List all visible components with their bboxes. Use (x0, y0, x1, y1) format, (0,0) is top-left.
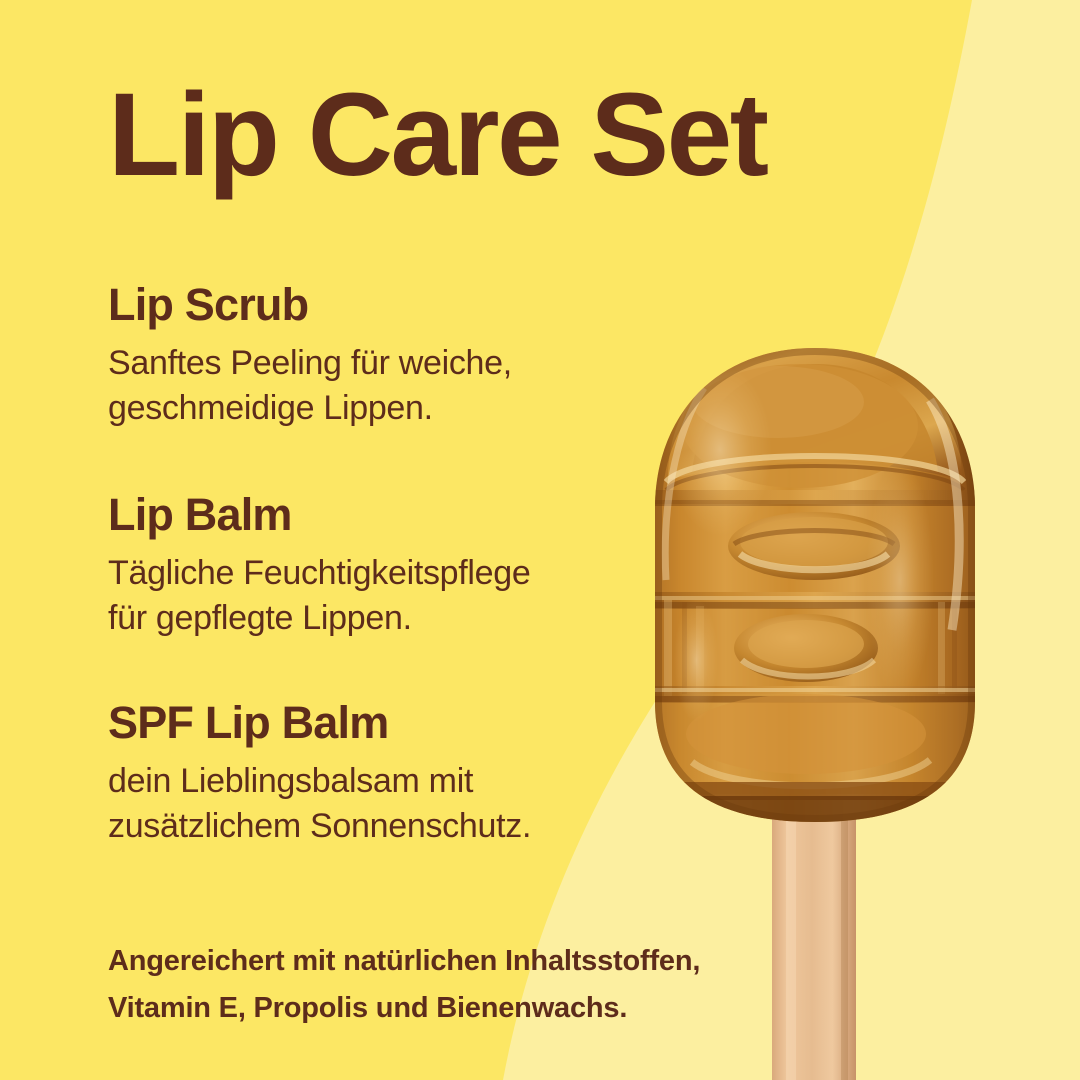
poster-canvas: Lip Care Set Lip Scrub Sanftes Peeling f… (0, 0, 1080, 1080)
section-title-lip-balm: Lip Balm (108, 492, 668, 537)
section-body-line: Tägliche Feuchtigkeitspflege (108, 551, 668, 596)
section-body-line: Sanftes Peeling für weiche, (108, 341, 668, 386)
section-body-lip-scrub: Sanftes Peeling für weiche, geschmeidige… (108, 341, 668, 431)
section-title-lip-scrub: Lip Scrub (108, 282, 668, 327)
ingredients-footnote: Angereichert mit natürlichen Inhaltsstof… (108, 938, 700, 1032)
product-section-lip-balm: Lip Balm Tägliche Feuchtigkeitspflege fü… (108, 492, 668, 641)
product-section-lip-scrub: Lip Scrub Sanftes Peeling für weiche, ge… (108, 282, 668, 431)
section-body-lip-balm: Tägliche Feuchtigkeitspflege für gepfleg… (108, 551, 668, 641)
section-title-spf-lip-balm: SPF Lip Balm (108, 700, 668, 745)
section-body-line: dein Lieblingsbalsam mit (108, 759, 668, 804)
text-content: Lip Care Set Lip Scrub Sanftes Peeling f… (108, 0, 768, 1080)
footnote-line: Vitamin E, Propolis und Bienenwachs. (108, 985, 700, 1032)
section-body-line: zusätzlichem Sonnenschutz. (108, 804, 668, 849)
page-title: Lip Care Set (108, 76, 767, 194)
section-body-line: für gepflegte Lippen. (108, 596, 668, 641)
footnote-line: Angereichert mit natürlichen Inhaltsstof… (108, 938, 700, 985)
product-section-spf-lip-balm: SPF Lip Balm dein Lieblingsbalsam mit zu… (108, 700, 668, 849)
section-body-spf-lip-balm: dein Lieblingsbalsam mit zusätzlichem So… (108, 759, 668, 849)
section-body-line: geschmeidige Lippen. (108, 386, 668, 431)
